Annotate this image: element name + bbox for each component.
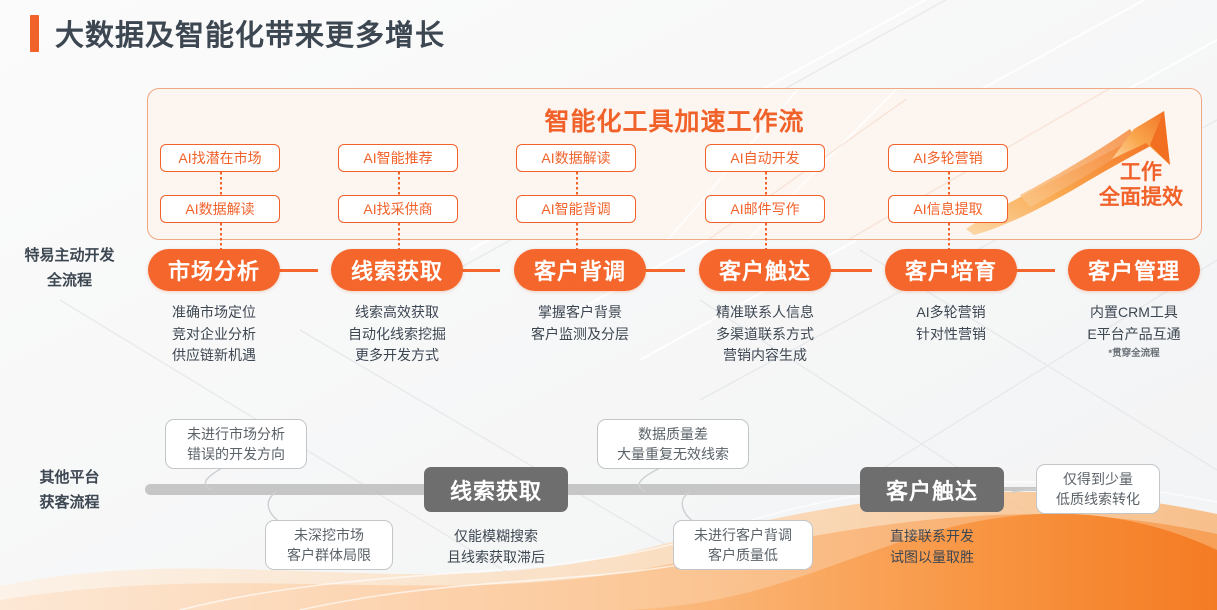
flow-connector: [1013, 269, 1055, 272]
callout-line: 客户群体局限: [287, 545, 371, 565]
stage-points-customer-management: 内置CRM工具 E平台产品互通 *贯穿全流程: [1049, 302, 1217, 362]
ai-chip[interactable]: AI找潜在市场: [160, 144, 280, 172]
callout-line: 未进行客户背调: [694, 525, 792, 545]
page-title: 大数据及智能化带来更多增长: [30, 12, 445, 54]
other-flow-track: [560, 484, 904, 495]
other-stage-pill-lead-acquisition[interactable]: 线索获取: [424, 467, 568, 512]
callout-shallow-market: 未深挖市场 客户群体局限: [265, 520, 393, 570]
stage-pill-lead-acquisition[interactable]: 线索获取: [331, 249, 463, 291]
other-stage-sub-lead-acquisition: 仅能模糊搜索 且线索获取滞后: [416, 526, 576, 568]
ai-chip[interactable]: AI数据解读: [160, 195, 280, 223]
callout-no-background-check: 未进行客户背调 客户质量低: [673, 520, 813, 570]
slide-root: 大数据及智能化带来更多增长 智能化工具加速工作流: [0, 0, 1217, 610]
flow-connector: [830, 269, 872, 272]
stage-points-customer-nurture: AI多轮营销 针对性营销: [866, 302, 1036, 345]
stage-pill-customer-management[interactable]: 客户管理: [1068, 249, 1200, 291]
callout-no-market-analysis: 未进行市场分析 错误的开发方向: [165, 419, 307, 469]
callout-line: 未进行市场分析: [187, 424, 285, 444]
stage-point: 准确市场定位: [129, 302, 299, 324]
main-flow-side-label-line2: 全流程: [2, 269, 137, 294]
stage-pill-customer-reach[interactable]: 客户触达: [699, 249, 831, 291]
ai-chip[interactable]: AI自动开发: [705, 144, 825, 172]
flow-connector: [458, 269, 500, 272]
dotted-connector: [948, 172, 950, 195]
stage-points-market-analysis: 准确市场定位 竞对企业分析 供应链新机遇: [129, 302, 299, 367]
other-stage-sub-line: 仅能模糊搜索: [416, 526, 576, 547]
other-stage-sub-customer-reach: 直接联系开发 试图以量取胜: [852, 526, 1012, 568]
callout-line: 仅得到少量: [1056, 469, 1140, 489]
main-flow-row: 市场分析 线索获取 客户背调 客户触达 客户培育 客户管理 准确市场定位 竞对企…: [0, 240, 1217, 380]
stage-point: 客户监测及分层: [495, 324, 665, 346]
other-flow-side-label-line1: 其他平台: [2, 466, 137, 491]
ai-column-1: AI找潜在市场 AI数据解读: [160, 144, 280, 223]
stage-point: 自动化线索挖掘: [312, 324, 482, 346]
stage-pill-market-analysis[interactable]: 市场分析: [148, 249, 280, 291]
callout-line: 客户质量低: [694, 545, 792, 565]
stage-point: AI多轮营销: [866, 302, 1036, 324]
ai-column-3: AI数据解读 AI智能背调: [516, 144, 636, 223]
other-flow-row: 线索获取 客户触达 仅能模糊搜索 且线索获取滞后 直接联系开发 试图以量取胜 未…: [0, 400, 1217, 590]
stage-point: 内置CRM工具: [1049, 302, 1217, 324]
other-flow-side-label-line2: 获客流程: [2, 491, 137, 516]
main-flow-side-label-line1: 特易主动开发: [2, 244, 137, 269]
stage-point: 更多开发方式: [312, 345, 482, 367]
stage-points-customer-background: 掌握客户背景 客户监测及分层: [495, 302, 665, 345]
ai-chip[interactable]: AI智能背调: [516, 195, 636, 223]
other-flow-side-label: 其他平台 获客流程: [2, 466, 137, 516]
callout-low-conversion: 仅得到少量 低质线索转化: [1036, 464, 1160, 514]
callout-line: 错误的开发方向: [187, 444, 285, 464]
stage-point: 精准联系人信息: [680, 302, 850, 324]
callout-line: 大量重复无效线索: [617, 444, 729, 464]
ai-column-4: AI自动开发 AI邮件写作: [705, 144, 825, 223]
ai-chip[interactable]: AI智能推荐: [338, 144, 458, 172]
callout-line: 未深挖市场: [287, 525, 371, 545]
stage-point: 竞对企业分析: [129, 324, 299, 346]
flow-connector: [276, 269, 318, 272]
ai-chip[interactable]: AI邮件写作: [705, 195, 825, 223]
stage-point: 多渠道联系方式: [680, 324, 850, 346]
stage-point: 线索高效获取: [312, 302, 482, 324]
stage-pill-customer-background[interactable]: 客户背调: [514, 249, 646, 291]
other-stage-sub-line: 直接联系开发: [852, 526, 1012, 547]
callout-line: 低质线索转化: [1056, 489, 1140, 509]
callout-poor-data-quality: 数据质量差 大量重复无效线索: [597, 419, 749, 469]
dotted-connector: [398, 172, 400, 195]
stage-point: 掌握客户背景: [495, 302, 665, 324]
flow-connector: [643, 269, 685, 272]
main-flow-side-label: 特易主动开发 全流程: [2, 244, 137, 294]
dotted-connector: [765, 172, 767, 195]
ai-column-5: AI多轮营销 AI信息提取: [888, 144, 1008, 223]
stage-pill-customer-nurture[interactable]: 客户培育: [885, 249, 1017, 291]
title-text: 大数据及智能化带来更多增长: [55, 12, 445, 54]
dotted-connector: [576, 172, 578, 195]
other-stage-pill-customer-reach[interactable]: 客户触达: [860, 467, 1004, 512]
stage-point: 供应链新机遇: [129, 345, 299, 367]
title-accent-bar: [30, 15, 39, 52]
ai-chip[interactable]: AI信息提取: [888, 195, 1008, 223]
stage-point: E平台产品互通: [1049, 324, 1217, 346]
ai-chip[interactable]: AI找采供商: [338, 195, 458, 223]
ai-chip[interactable]: AI多轮营销: [888, 144, 1008, 172]
other-stage-sub-line: 且线索获取滞后: [416, 547, 576, 568]
ai-chip[interactable]: AI数据解读: [516, 144, 636, 172]
ai-column-2: AI智能推荐 AI找采供商: [338, 144, 458, 223]
callout-line: 数据质量差: [617, 424, 729, 444]
stage-points-lead-acquisition: 线索高效获取 自动化线索挖掘 更多开发方式: [312, 302, 482, 367]
stage-point: 针对性营销: [866, 324, 1036, 346]
stage-point: 营销内容生成: [680, 345, 850, 367]
stage-footnote: *贯穿全流程: [1049, 347, 1217, 362]
stage-points-customer-reach: 精准联系人信息 多渠道联系方式 营销内容生成: [680, 302, 850, 367]
dotted-connector: [220, 172, 222, 195]
other-stage-sub-line: 试图以量取胜: [852, 547, 1012, 568]
